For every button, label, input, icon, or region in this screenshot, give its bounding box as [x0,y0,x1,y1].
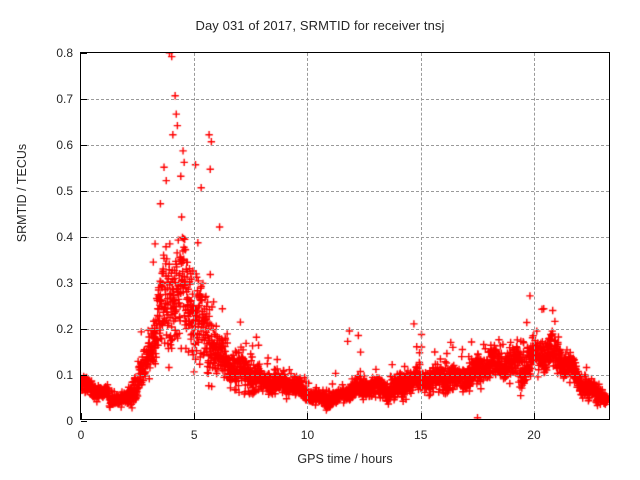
chart-title: Day 031 of 2017, SRMTID for receiver tns… [0,18,640,33]
y-axis-tick [81,283,87,284]
x-axis-tick-label: 5 [191,428,198,442]
x-axis-tick-label: 20 [527,428,540,442]
y-axis-tick [81,421,87,422]
gridline-horizontal [81,375,609,376]
x-axis-tick [81,413,82,419]
x-axis-tick [421,413,422,419]
y-axis-tick-label: 0.5 [27,184,73,198]
gridline-vertical [307,53,308,419]
y-axis-tick-label: 0.8 [27,46,73,60]
x-axis-tick-label: 15 [414,428,427,442]
gridline-horizontal [81,99,609,100]
y-axis-tick [81,145,87,146]
y-axis-tick-label: 0.2 [27,322,73,336]
x-axis-tick-label: 10 [301,428,314,442]
gridline-horizontal [81,237,609,238]
y-axis-tick-label: 0.4 [27,230,73,244]
y-axis-tick-label: 0.6 [27,138,73,152]
y-axis-tick [81,99,87,100]
gridline-vertical [534,53,535,419]
x-axis-title: GPS time / hours [80,452,610,466]
x-axis-tick-label: 0 [78,428,85,442]
y-axis-tick [81,375,87,376]
y-axis-tick-label: 0 [27,414,73,428]
x-axis-tick [534,413,535,419]
y-axis-tick [81,329,87,330]
y-axis-title: SRMTID / TECUs [15,93,29,293]
gridline-horizontal [81,283,609,284]
gridline-horizontal [81,329,609,330]
gridline-horizontal [81,145,609,146]
x-axis-tick [307,413,308,419]
plot-frame: 00.10.20.30.40.50.60.70.805101520 [80,52,610,420]
y-axis-tick-label: 0.7 [27,92,73,106]
gridline-horizontal [81,191,609,192]
y-axis-tick-label: 0.3 [27,276,73,290]
y-axis-tick [81,53,87,54]
chart-container: Day 031 of 2017, SRMTID for receiver tns… [0,0,640,480]
gridline-vertical [421,53,422,419]
x-axis-tick [194,413,195,419]
y-axis-tick [81,191,87,192]
gridline-vertical [194,53,195,419]
y-axis-tick [81,237,87,238]
y-axis-tick-label: 0.1 [27,368,73,382]
